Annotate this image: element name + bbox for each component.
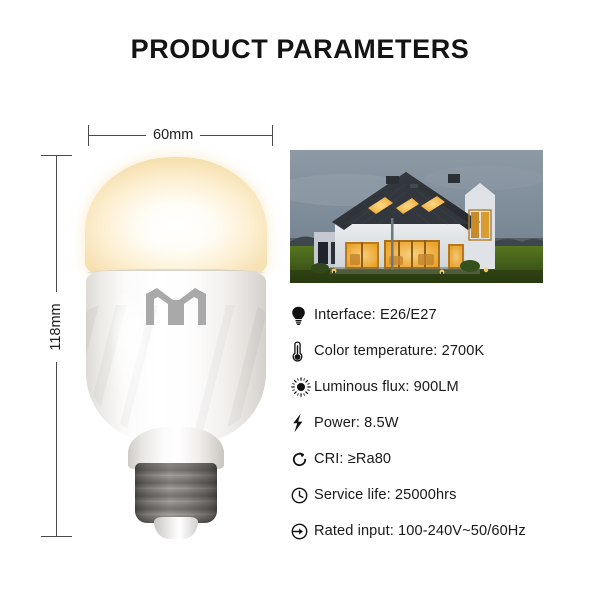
spec-label-interface: Interface: E26/E27: [314, 307, 437, 323]
refresh-icon: [291, 448, 314, 470]
product-parameters-page: PRODUCT PARAMETERS 60mm 118mm: [0, 0, 600, 600]
bulb-body: [86, 271, 266, 443]
spec-label-rated-input: Rated input: 100-240V~50/60Hz: [314, 523, 526, 539]
spec-row-service-life: Service life: 25000hrs: [291, 477, 591, 513]
bulb-icon: [291, 304, 314, 326]
bulb-dome: [85, 157, 267, 277]
spec-row-power: Power: 8.5W: [291, 405, 591, 441]
bulb-base-tip: [154, 517, 198, 539]
clock-icon: [291, 484, 314, 506]
power-input-icon: [291, 520, 314, 542]
spec-label-cri: CRI: ≥Ra80: [314, 451, 391, 467]
thermometer-icon: [291, 340, 314, 362]
sun-icon: [291, 376, 314, 398]
height-dimension-cap-top: [41, 155, 72, 156]
width-dimension-cap-left: [88, 125, 89, 146]
height-dimension-cap-bottom: [41, 536, 72, 537]
spec-list: Interface: E26/E27 Color temperature: 27…: [291, 297, 591, 549]
height-dimension-label: 118mm: [44, 292, 68, 362]
spec-row-cri: CRI: ≥Ra80: [291, 441, 591, 477]
spec-label-luminous-flux: Luminous flux: 900LM: [314, 379, 459, 395]
height-dimension: 118mm: [40, 155, 74, 537]
spec-label-power: Power: 8.5W: [314, 415, 399, 431]
bolt-icon: [291, 412, 314, 434]
width-dimension-label: 60mm: [146, 124, 200, 146]
spec-row-rated-input: Rated input: 100-240V~50/60Hz: [291, 513, 591, 549]
house-scene-photo: [290, 150, 543, 283]
bulb-screw-base: [135, 463, 217, 523]
spec-row-interface: Interface: E26/E27: [291, 297, 591, 333]
spec-label-service-life: Service life: 25000hrs: [314, 487, 457, 503]
width-dimension: 60mm: [88, 122, 273, 148]
spec-row-color-temperature: Color temperature: 2700K: [291, 333, 591, 369]
spec-row-luminous-flux: Luminous flux: 900LM: [291, 369, 591, 405]
page-title: PRODUCT PARAMETERS: [0, 34, 600, 65]
width-dimension-cap-right: [272, 125, 273, 146]
product-bulb-image: [80, 155, 272, 540]
spec-label-color-temperature: Color temperature: 2700K: [314, 343, 484, 359]
